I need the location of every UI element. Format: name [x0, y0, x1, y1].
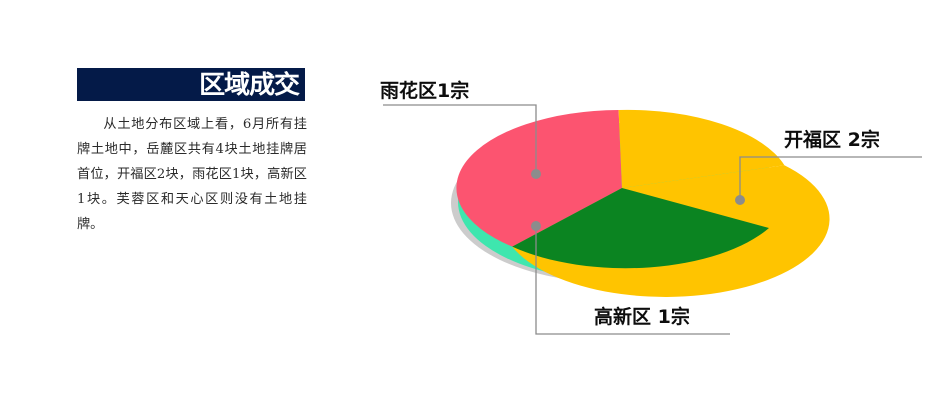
pie-label-yuhua: 雨花区1宗	[380, 82, 469, 101]
section-banner: 区域成交	[77, 68, 305, 101]
pie-chart-svg	[360, 0, 940, 409]
pie-label-kaifu: 开福区 2宗	[784, 131, 880, 150]
pie-label-gaoxin: 高新区 1宗	[594, 308, 690, 327]
section-banner-title: 区域成交	[199, 72, 299, 97]
article-body-text: 从土地分布区域上看，6月所有挂牌土地中，岳麓区共有4块土地挂牌居首位，开福区2块…	[77, 112, 307, 237]
pie-chart: 雨花区1宗 开福区 2宗 高新区 1宗	[360, 0, 940, 409]
leader-dot-yuhua	[531, 169, 541, 179]
leader-dot-gaoxin	[531, 221, 541, 231]
page-root: 区域成交 从土地分布区域上看，6月所有挂牌土地中，岳麓区共有4块土地挂牌居首位，…	[0, 0, 940, 409]
leader-dot-kaifu	[735, 195, 745, 205]
article-block: 区域成交 从土地分布区域上看，6月所有挂牌土地中，岳麓区共有4块土地挂牌居首位，…	[77, 68, 305, 250]
